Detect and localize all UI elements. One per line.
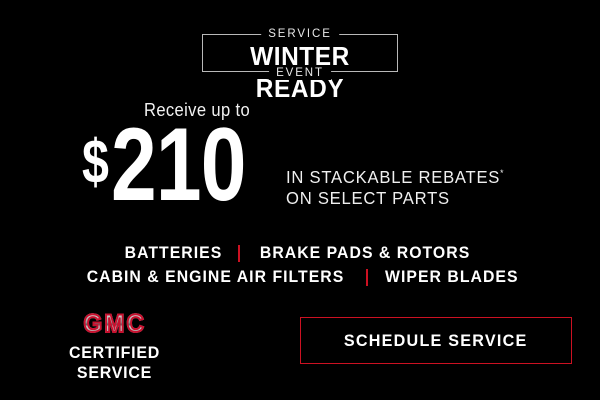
offer-amount: 210 xyxy=(111,122,246,208)
footnote-marker: * xyxy=(500,168,503,178)
parts-row-1: BATTERIES BRAKE PADS & ROTORS xyxy=(0,241,600,265)
offer-amount-group: $ 210 xyxy=(82,122,282,208)
part-item: CABIN & ENGINE AIR FILTERS xyxy=(86,265,344,289)
part-item: WIPER BLADES xyxy=(385,265,518,289)
eligible-parts-list: BATTERIES BRAKE PADS & ROTORS CABIN & EN… xyxy=(0,241,600,289)
offer-description-line2: ON SELECT PARTS xyxy=(286,188,503,209)
badge-kicker: SERVICE xyxy=(261,27,339,41)
offer-description-line1: IN STACKABLE REBATES* xyxy=(286,163,503,188)
schedule-service-button-label: SCHEDULE SERVICE xyxy=(344,331,528,351)
gmc-certified-service-lockup: GMC CERTIFIED SERVICE xyxy=(37,311,192,383)
part-item: BATTERIES xyxy=(125,241,223,265)
gmc-logo: GMC xyxy=(83,311,146,338)
parts-separator-icon xyxy=(366,269,368,286)
part-item: BRAKE PADS & ROTORS xyxy=(260,241,470,265)
certified-service-tagline: CERTIFIED SERVICE xyxy=(42,343,188,383)
currency-symbol: $ xyxy=(82,132,108,194)
advertisement-banner: SERVICE WINTER READY EVENT Receive up to… xyxy=(0,0,600,400)
offer-description-line1-text: IN STACKABLE REBATES xyxy=(286,167,500,187)
winter-ready-event-badge: SERVICE WINTER READY EVENT xyxy=(202,28,398,78)
parts-row-2: CABIN & ENGINE AIR FILTERS WIPER BLADES xyxy=(0,265,600,289)
badge-footer: EVENT xyxy=(269,66,331,80)
parts-separator-icon xyxy=(238,245,240,262)
offer-description: IN STACKABLE REBATES* ON SELECT PARTS xyxy=(286,163,503,209)
schedule-service-button[interactable]: SCHEDULE SERVICE xyxy=(300,317,572,364)
